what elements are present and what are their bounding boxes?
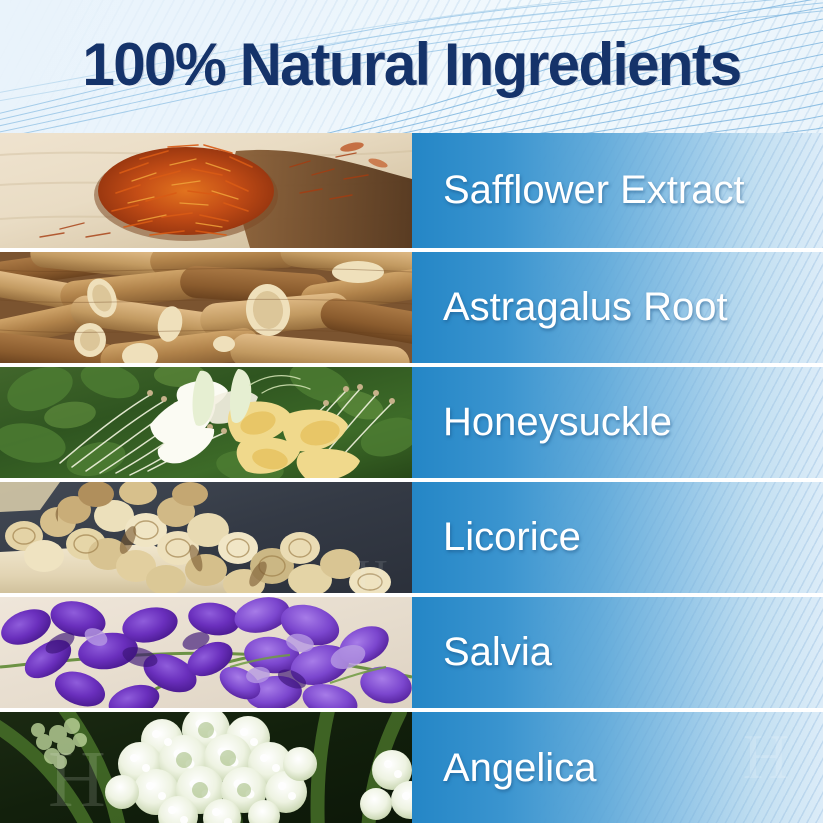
ingredient-label: Salvia — [443, 630, 552, 675]
ingredient-image-safflower-threads-on-wooden-spoon — [0, 133, 412, 248]
honeysuckle-illustration — [0, 367, 412, 478]
ingredient-image-licorice-root-slices-on-dish: H — [0, 482, 412, 593]
ingredient-label-cell[interactable]: Safflower Extract — [412, 133, 823, 248]
ingredient-image-angelica-white-umbel-flowers: H — [0, 712, 412, 823]
ingredient-row[interactable]: Safflower Extract — [0, 133, 823, 248]
salvia-illustration — [0, 597, 412, 708]
ingredient-label-cell[interactable]: Licorice — [412, 482, 823, 593]
safflower-illustration — [0, 133, 412, 248]
ingredient-row[interactable]: H Licorice — [0, 478, 823, 593]
ingredient-label-cell[interactable]: H Angelica — [412, 712, 823, 823]
ingredient-image-astragalus-root-sticks-pile — [0, 252, 412, 363]
ingredient-label-cell[interactable]: Honeysuckle — [412, 367, 823, 478]
ingredient-label: Honeysuckle — [443, 400, 672, 445]
ingredient-label-cell[interactable]: Salvia — [412, 597, 823, 708]
ingredient-image-salvia-purple-flowers — [0, 597, 412, 708]
watermark-glyph: H — [48, 736, 106, 823]
ingredient-label: Licorice — [443, 515, 581, 560]
ingredient-row[interactable]: H H Angelica — [0, 708, 823, 823]
ingredient-row[interactable]: Honeysuckle — [0, 363, 823, 478]
ingredient-label: Astragalus Root — [443, 285, 728, 330]
angelica-illustration: H — [0, 712, 412, 823]
header-banner: 100% Natural Ingredients — [0, 0, 823, 133]
ingredient-image-honeysuckle-white-yellow-flowers — [0, 367, 412, 478]
page-title: 100% Natural Ingredients — [12, 30, 810, 99]
licorice-illustration: H — [0, 482, 412, 593]
ingredient-label: Safflower Extract — [443, 168, 745, 213]
infographic-page: 100% Natural Ingredients — [0, 0, 823, 823]
astragalus-illustration — [0, 252, 412, 363]
ingredient-label: Angelica — [443, 746, 596, 791]
ingredient-row[interactable]: Salvia — [0, 593, 823, 708]
ingredient-list: Safflower Extract — [0, 133, 823, 823]
ingredient-row[interactable]: Astragalus Root — [0, 248, 823, 363]
ingredient-label-cell[interactable]: Astragalus Root — [412, 252, 823, 363]
